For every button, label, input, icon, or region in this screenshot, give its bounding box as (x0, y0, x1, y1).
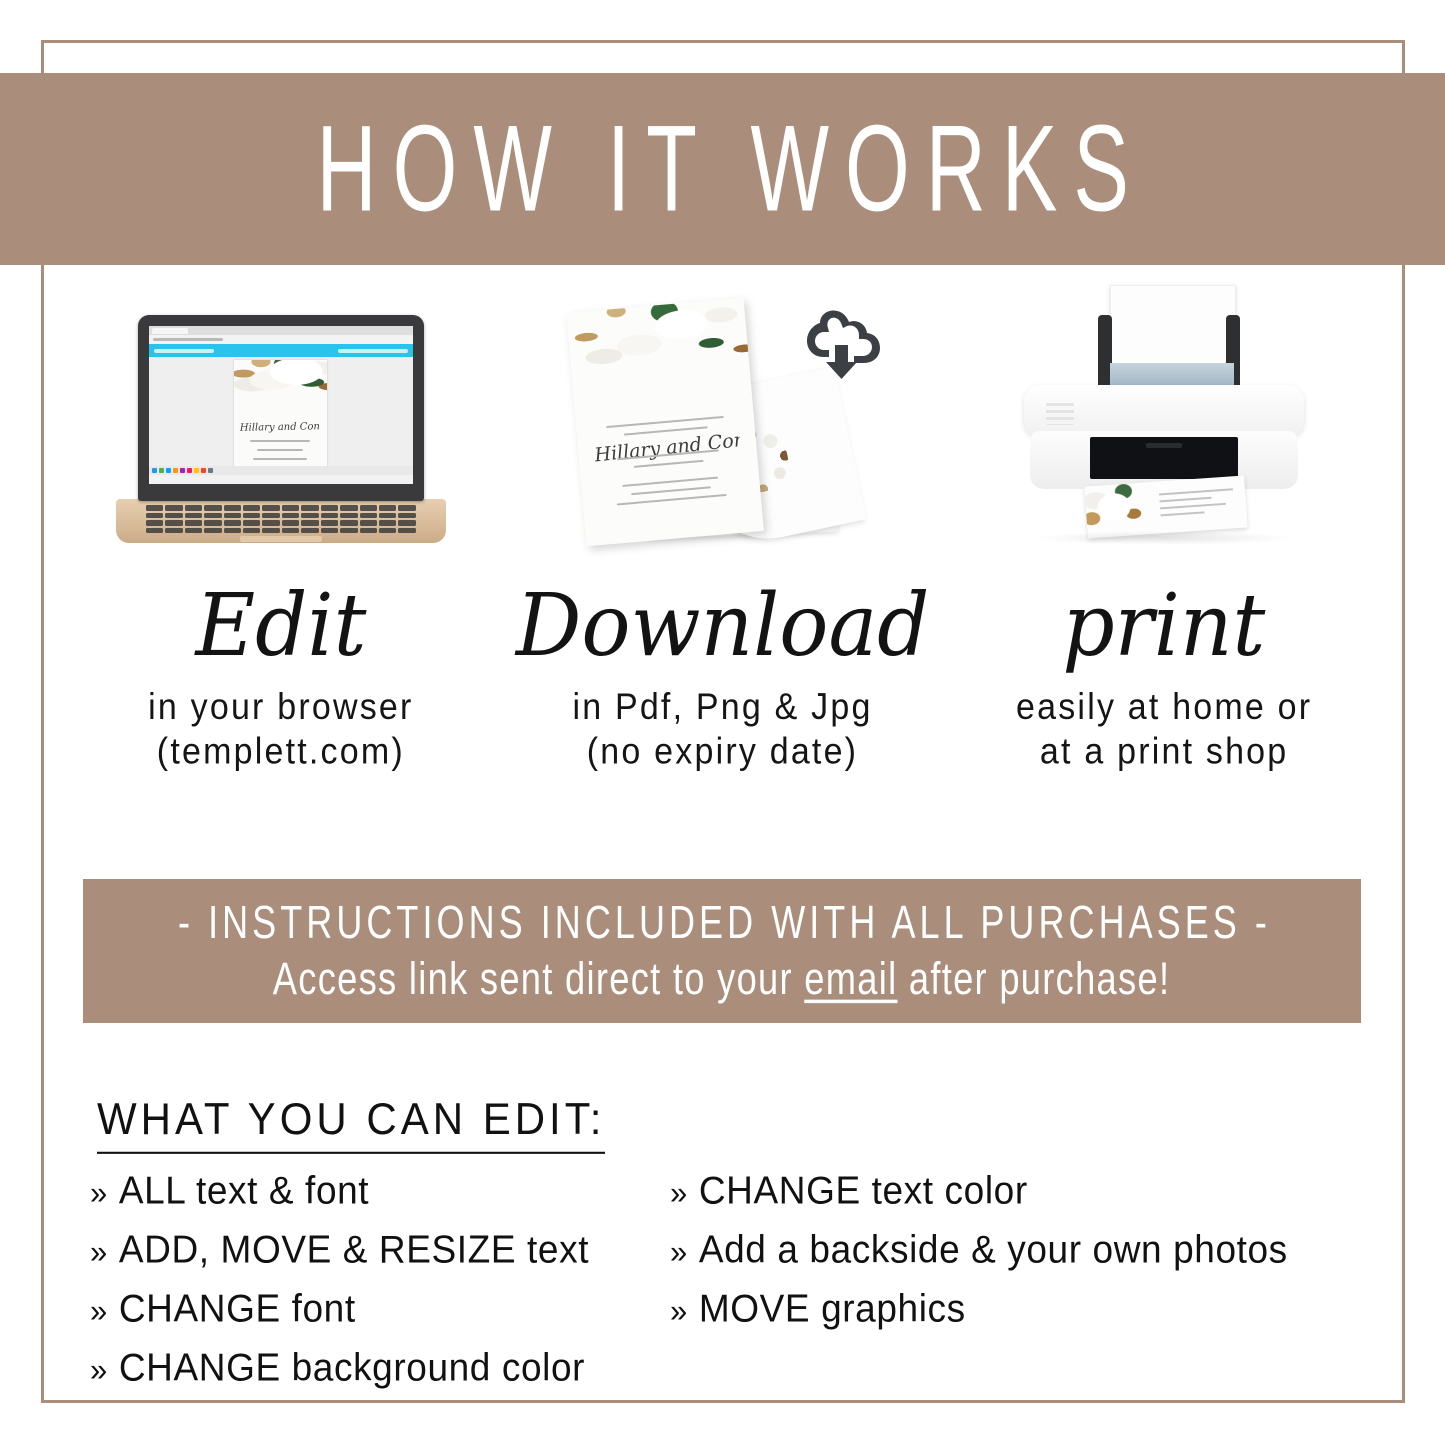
caption-line-1: easily at home or (1016, 686, 1312, 731)
list-item-label: Add a backside & your own photos (699, 1228, 1288, 1271)
steps-row: Hillary and Connor (60, 275, 1385, 815)
invitation-body-lines (598, 415, 739, 513)
invitation-card: Hillary and Connor (566, 298, 764, 547)
invitation-illustration: Hillary and Connor (502, 275, 944, 565)
os-taskbar (149, 466, 413, 475)
browser-tab (152, 328, 188, 334)
caption-line-2: (no expiry date) (572, 730, 872, 775)
instructions-subline: Access link sent direct to your email af… (273, 955, 1171, 1005)
laptop-icon: Hillary and Connor (116, 315, 446, 565)
floral-graphic (234, 360, 327, 406)
bullet-icon: » (90, 1174, 108, 1211)
step-caption-download: in Pdf, Png & Jpg (no expiry date) (572, 686, 872, 776)
instructions-headline: - INSTRUCTIONS INCLUDED WITH ALL PURCHAS… (173, 897, 1270, 948)
bullet-icon: » (90, 1292, 108, 1329)
laptop-trackpad (240, 536, 322, 542)
bullet-icon: » (90, 1351, 108, 1388)
laptop-lid: Hillary and Connor (138, 315, 424, 501)
caption-line-1: in Pdf, Png & Jpg (572, 686, 872, 731)
list-item: »ADD, MOVE & RESIZE text (90, 1230, 670, 1271)
list-item-label: CHANGE background color (119, 1345, 585, 1388)
invitation-preview: Hillary and Connor (234, 360, 327, 473)
bullet-icon: » (670, 1174, 688, 1211)
invitation-and-envelope-icon: Hillary and Connor (558, 293, 888, 565)
bullet-icon: » (670, 1292, 688, 1329)
step-script-label-download: Download (516, 571, 930, 681)
magnolia-floral-graphic (566, 298, 763, 402)
list-item-label: CHANGE text color (699, 1169, 1028, 1212)
laptop-keyboard (146, 505, 416, 533)
bullet-icon: » (670, 1233, 688, 1270)
how-it-works-infographic: HOW IT WORKS (0, 0, 1445, 1445)
printer-vents (1046, 403, 1074, 425)
step-caption-print: easily at home or at a print shop (1016, 686, 1312, 776)
instructions-banner: - INSTRUCTIONS INCLUDED WITH ALL PURCHAS… (83, 879, 1361, 1023)
printer-output-slot (1090, 437, 1238, 479)
list-item: »MOVE graphics (670, 1289, 1390, 1330)
printed-text-lines (1159, 488, 1237, 521)
list-item-label: ALL text & font (119, 1169, 369, 1212)
list-item: »CHANGE font (90, 1289, 670, 1330)
list-item-label: ADD, MOVE & RESIZE text (119, 1228, 589, 1271)
editor-canvas: Hillary and Connor (149, 357, 413, 475)
instructions-subline-after: after purchase! (898, 954, 1171, 1004)
editor-toolbar (149, 344, 413, 357)
step-script-label-edit: Edit (195, 571, 366, 681)
edit-list-right: »CHANGE text color »Add a backside & you… (670, 1172, 1390, 1407)
list-item-label: CHANGE font (119, 1286, 356, 1329)
list-item: »Add a backside & your own photos (670, 1230, 1390, 1271)
printed-floral-graphic (1085, 477, 1144, 533)
list-item: »CHANGE text color (670, 1171, 1390, 1212)
browser-tab-bar (149, 326, 413, 335)
printed-invitation (1085, 475, 1248, 538)
step-print: print easily at home or at a print shop (943, 275, 1385, 815)
step-caption-edit: in your browser (templett.com) (148, 686, 413, 776)
email-link[interactable]: email (805, 954, 898, 1004)
caption-line-1: in your browser (148, 686, 413, 731)
edit-section-heading: WHAT YOU CAN EDIT: (97, 1094, 605, 1154)
step-edit: Hillary and Connor (60, 275, 502, 815)
list-item: »CHANGE background color (90, 1347, 670, 1388)
instructions-subline-before: Access link sent direct to your (273, 954, 805, 1004)
caption-line-2: (templett.com) (148, 730, 413, 775)
printer-icon (994, 285, 1334, 565)
bullet-icon: » (90, 1233, 108, 1270)
list-item: »ALL text & font (90, 1171, 670, 1212)
laptop-screen: Hillary and Connor (149, 326, 413, 484)
browser-address-bar (149, 335, 413, 344)
cloud-download-icon (796, 309, 882, 381)
laptop-illustration: Hillary and Connor (60, 275, 502, 565)
list-item-label: MOVE graphics (699, 1286, 966, 1329)
printer-shadow (1034, 531, 1294, 545)
caption-line-2: at a print shop (1016, 730, 1312, 775)
edit-section-columns: »ALL text & font »ADD, MOVE & RESIZE tex… (90, 1172, 1390, 1407)
step-script-label-print: print (1063, 571, 1266, 681)
edit-list-left: »ALL text & font »ADD, MOVE & RESIZE tex… (90, 1172, 670, 1407)
step-download: Hillary and Connor (502, 275, 944, 815)
header-banner: HOW IT WORKS (0, 73, 1445, 265)
printer-illustration (943, 275, 1385, 565)
page-title: HOW IT WORKS (300, 108, 1144, 231)
